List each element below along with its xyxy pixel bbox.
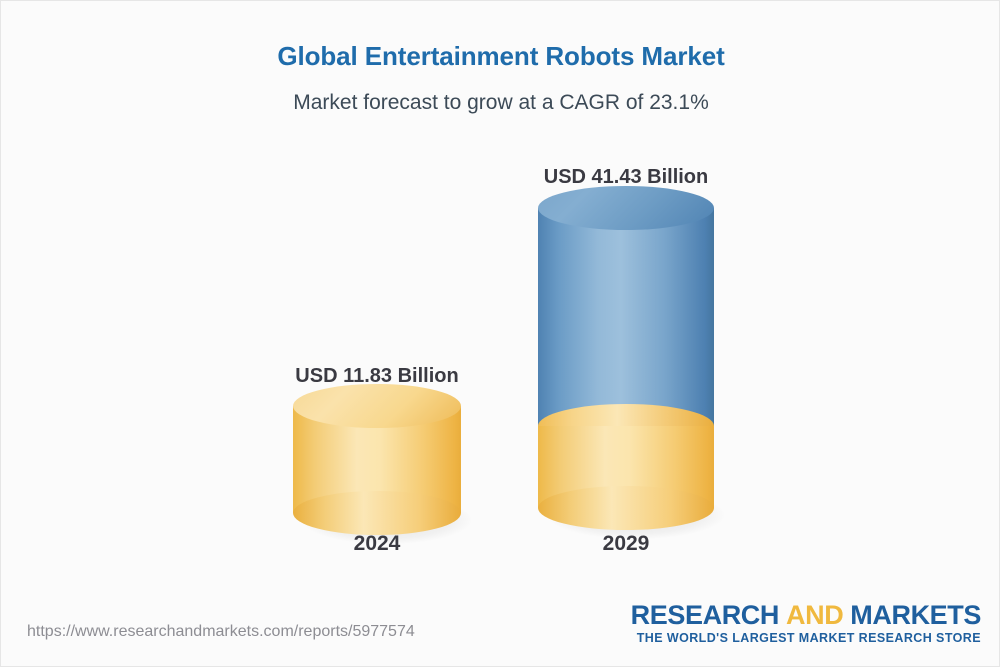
- chart-canvas: Global Entertainment Robots Market Marke…: [0, 0, 1000, 667]
- bar-bottom-cap-2024: [293, 491, 461, 535]
- bar-top-cap-2024: [293, 384, 461, 428]
- category-label-2029: 2029: [501, 532, 751, 556]
- page-title: Global Entertainment Robots Market: [1, 41, 1000, 72]
- bar-cylinder-2029: [538, 186, 714, 535]
- logo-wordmark: RESEARCHANDMARKETS: [631, 601, 981, 629]
- bar-bottom-cap-2029: [538, 486, 714, 530]
- bar-top-cap-2029: [538, 186, 714, 230]
- report-url[interactable]: https://www.researchandmarkets.com/repor…: [27, 623, 415, 641]
- logo-word-and: AND: [786, 600, 843, 630]
- logo-word-research: RESEARCH: [631, 600, 779, 630]
- bar-body-blue-2029: [538, 208, 714, 426]
- research-and-markets-logo: RESEARCHANDMARKETS THE WORLD'S LARGEST M…: [631, 601, 981, 645]
- bar-cylinder-2024: [293, 384, 461, 535]
- logo-tagline: THE WORLD'S LARGEST MARKET RESEARCH STOR…: [631, 631, 981, 645]
- category-label-2024: 2024: [252, 532, 502, 556]
- chart-subtitle: Market forecast to grow at a CAGR of 23.…: [1, 91, 1000, 115]
- logo-word-markets: MARKETS: [850, 600, 981, 630]
